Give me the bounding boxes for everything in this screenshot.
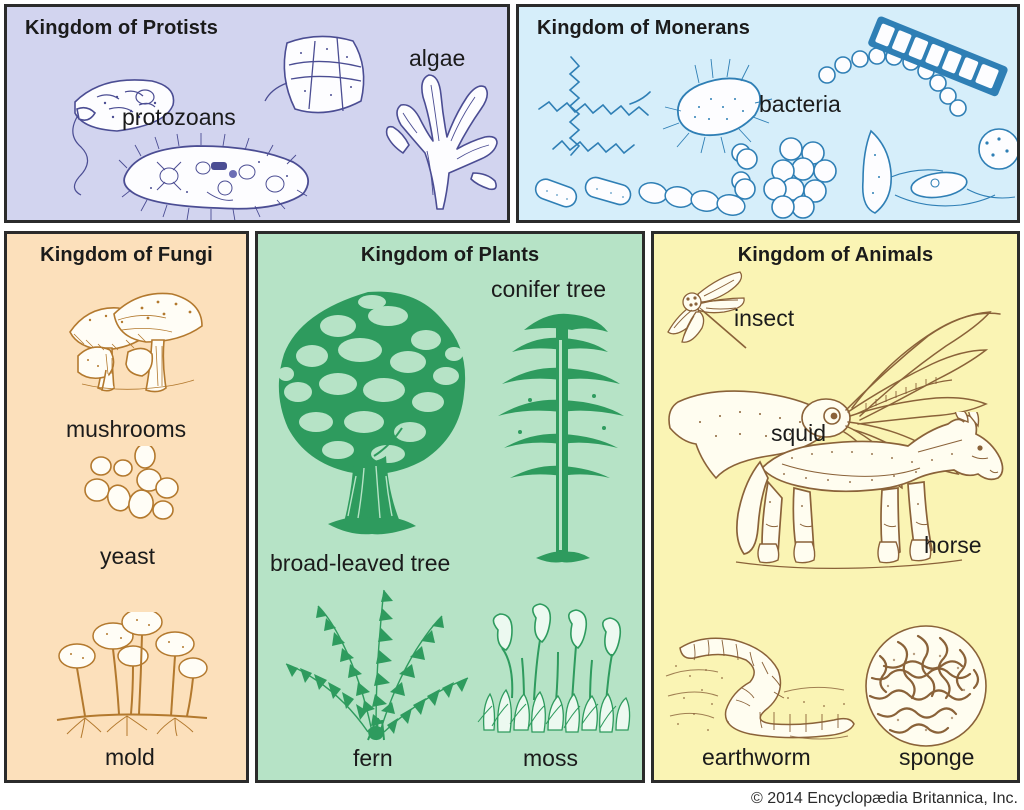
label-mushrooms: mushrooms	[66, 418, 186, 441]
panel-title-protists: Kingdom of Protists	[7, 17, 507, 40]
spirochete-bacteria-icon	[535, 49, 685, 179]
label-algae: algae	[409, 47, 465, 70]
label-yeast: yeast	[100, 545, 155, 568]
cocci-pair-icon	[729, 145, 769, 215]
dinoflagellate-protozoan-icon	[257, 23, 387, 143]
paramecium-protozoan-icon	[107, 132, 327, 222]
streptococcus-chain-icon	[817, 37, 977, 127]
label-horse: horse	[924, 534, 982, 557]
label-insect: insect	[734, 307, 794, 330]
panel-title-animals: Kingdom of Animals	[654, 244, 1017, 267]
panel-kingdom-of-plants: Kingdom of Plants	[255, 231, 645, 783]
panel-title-monerans: Kingdom of Monerans	[519, 17, 1017, 40]
panel-title-fungi: Kingdom of Fungi	[7, 244, 246, 267]
label-earthworm: earthworm	[702, 746, 811, 769]
panel-title-plants: Kingdom of Plants	[258, 244, 642, 267]
label-moss: moss	[523, 747, 578, 770]
panel-kingdom-of-protists: Kingdom of Protists	[4, 4, 510, 223]
label-fern: fern	[353, 747, 393, 770]
earthworm-icon	[664, 626, 864, 751]
label-mold: mold	[105, 746, 155, 769]
panel-kingdom-of-monerans: Kingdom of Monerans	[516, 4, 1020, 223]
panel-kingdom-of-fungi: Kingdom of Fungi	[4, 231, 249, 783]
label-squid: squid	[771, 422, 826, 445]
copyright-notice: © 2014 Encyclopædia Britannica, Inc.	[751, 790, 1018, 808]
five-kingdoms-diagram: Kingdom of Protists	[0, 0, 1024, 810]
yeast-icon	[79, 446, 189, 536]
bacteria-chain-rods-icon	[635, 169, 755, 219]
label-sponge: sponge	[899, 746, 974, 769]
label-conifer-tree: conifer tree	[491, 278, 606, 301]
fern-icon	[280, 572, 470, 742]
conifer-tree-icon	[484, 300, 632, 585]
bacilli-rods-icon	[531, 167, 731, 223]
label-protozoans: protozoans	[122, 106, 236, 129]
horse-icon	[722, 412, 1012, 597]
squid-icon	[660, 310, 1010, 500]
bacteria-flagellated-rods-icon	[847, 125, 1020, 223]
label-bacteria: bacteria	[759, 93, 841, 116]
broad-leaved-tree-icon	[268, 280, 478, 545]
moss-icon	[474, 602, 639, 742]
sponge-icon	[854, 620, 999, 755]
mold-icon	[47, 612, 217, 742]
label-broad-leaved-tree: broad-leaved tree	[270, 552, 450, 575]
panel-kingdom-of-animals: Kingdom of Animals	[651, 231, 1020, 783]
mushrooms-icon	[52, 284, 212, 404]
staphylococcus-cluster-icon	[729, 137, 879, 223]
